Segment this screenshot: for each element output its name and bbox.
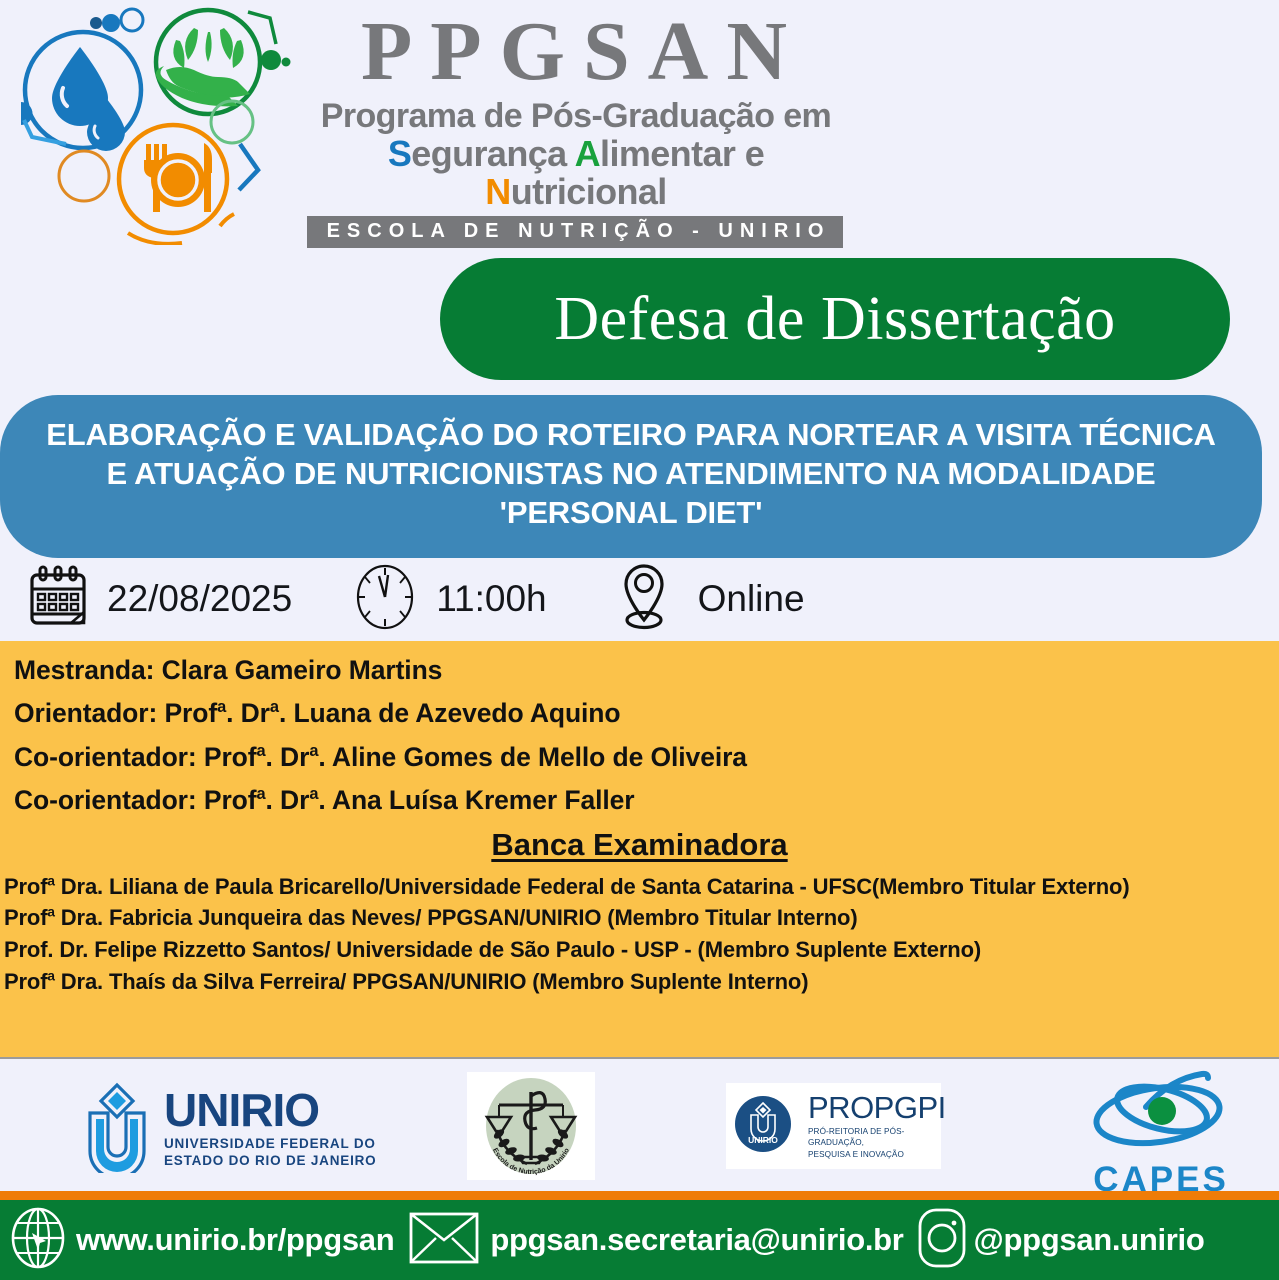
propgpi-badge-icon: UNIRIO: [734, 1095, 792, 1158]
institution-logos-strip: UNIRIO UNIVERSIDADE FEDERAL DO ESTADO DO…: [0, 1061, 1279, 1191]
student-text: Mestranda: Clara Gameiro Martins: [14, 655, 442, 685]
website-text[interactable]: www.unirio.br/ppgsan: [76, 1222, 394, 1258]
event-time-text: 11:00h: [436, 578, 546, 620]
committee-member-1-text: Dra. Liliana de Paula Bricarello/Univers…: [55, 874, 1130, 899]
advisor-line: Orientador: Profa. Dra. Luana de Azevedo…: [0, 692, 1279, 735]
coadvisor-2-role: Co-orientador: Prof: [14, 785, 256, 815]
event-time-item: 11:00h: [352, 564, 546, 635]
coadvisor-1-sup-2: a: [309, 742, 318, 760]
event-type-banner: Defesa de Dissertação: [440, 258, 1230, 380]
unirio-sub-line-2: ESTADO DO RIO DE JANEIRO: [164, 1153, 376, 1170]
committee-member-1: Profa Dra. Liliana de Paula Bricarello/U…: [0, 871, 1279, 903]
coadvisor-1-line: Co-orientador: Profa. Dra. Aline Gomes d…: [0, 736, 1279, 779]
event-type-label: Defesa de Dissertação: [554, 288, 1115, 350]
instagram-text[interactable]: @ppgsan.unirio: [974, 1222, 1205, 1258]
location-pin-icon: [615, 562, 673, 637]
brand-a-letter: A: [575, 133, 600, 174]
committee-member-2-sup: a: [47, 905, 54, 920]
coadvisor-2-mid: . Dr: [266, 785, 310, 815]
committee-member-4: Profa Dra. Thaís da Silva Ferreira/ PPGS…: [0, 966, 1279, 998]
brand-san-line: Segurança Alimentar e Nutricional: [296, 135, 856, 211]
committee-member-4-sup: a: [47, 969, 54, 984]
globe-icon: [10, 1207, 66, 1274]
brand-text-block: PPGSAN Programa de Pós-Graduação em Segu…: [296, 8, 856, 248]
committee-member-3-text: . Dr. Felipe Rizzetto Santos/ Universida…: [47, 937, 981, 962]
committee-member-3: Prof. Dr. Felipe Rizzetto Santos/ Univer…: [0, 934, 1279, 966]
advisor-role: Orientador: Prof: [14, 698, 217, 728]
propgpi-sub-line-1: PRÓ-REITORIA DE PÓS-GRADUAÇÃO,: [808, 1126, 946, 1148]
instagram-item[interactable]: @ppgsan.unirio: [916, 1207, 1205, 1274]
unirio-emblem-icon: [80, 1081, 154, 1178]
people-and-committee-block: Mestranda: Clara Gameiro Martins Orienta…: [0, 641, 1279, 1059]
coadvisor-1-role: Co-orientador: Prof: [14, 742, 256, 772]
advisor-sup-2: a: [270, 699, 279, 717]
coadvisor-2-sup-2: a: [309, 786, 318, 804]
committee-member-2: Profa Dra. Fabricia Junqueira das Neves/…: [0, 902, 1279, 934]
clock-icon: [352, 564, 418, 635]
brand-alimentar-text: limentar e: [600, 133, 764, 174]
event-date-text: 22/08/2025: [107, 578, 292, 620]
committee-member-4-text: Dra. Thaís da Silva Ferreira/ PPGSAN/UNI…: [55, 969, 809, 994]
committee-heading: Banca Examinadora: [0, 827, 1279, 863]
brand-school-bar: ESCOLA DE NUTRIÇÃO - UNIRIO: [307, 216, 843, 248]
advisor-name: . Luana de Azevedo Aquino: [279, 698, 621, 728]
coadvisor-2-sup-1: a: [256, 786, 265, 804]
email-item[interactable]: ppgsan.secretaria@unirio.br: [408, 1210, 903, 1271]
coadvisor-1-name: . Aline Gomes de Mello de Oliveira: [318, 742, 747, 772]
envelope-icon: [408, 1210, 480, 1271]
unirio-wordmark: UNIRIO UNIVERSIDADE FEDERAL DO ESTADO DO…: [164, 1089, 376, 1169]
brand-acronym: PPGSAN: [296, 8, 856, 96]
advisor-mid: . Dr: [226, 698, 270, 728]
propgpi-name: PROPGPI: [808, 1092, 946, 1123]
committee-member-1-sup: a: [47, 873, 54, 888]
event-date-item: 22/08/2025: [26, 564, 292, 635]
propgpi-wordmark: PROPGPI PRÓ-REITORIA DE PÓS-GRADUAÇÃO, P…: [808, 1092, 946, 1159]
coadvisor-1-mid: . Dr: [266, 742, 310, 772]
unirio-name: UNIRIO: [164, 1084, 319, 1136]
capes-emblem-icon: [1086, 1142, 1236, 1159]
brand-seguranca-text: egurança: [411, 133, 574, 174]
advisor-sup-1: a: [217, 699, 226, 717]
coadvisor-1-sup-1: a: [256, 742, 265, 760]
calendar-icon: [26, 564, 90, 635]
committee-member-2-text: Dra. Fabricia Junqueira das Neves/ PPGSA…: [55, 905, 858, 930]
website-item[interactable]: www.unirio.br/ppgsan: [10, 1207, 394, 1274]
propgpi-sub-line-2: PESQUISA E INOVAÇÃO: [808, 1149, 946, 1160]
escola-nutricao-seal: Escola de Nutrição da Unirio: [467, 1072, 595, 1180]
ppgsan-logo-mark: [8, 2, 298, 245]
brand-nutricional-text: utricional: [511, 171, 667, 212]
propgpi-logo: UNIRIO PROPGPI PRÓ-REITORIA DE PÓS-GRADU…: [726, 1083, 941, 1169]
brand-n-letter: N: [485, 171, 510, 212]
propgpi-badge-text: UNIRIO: [748, 1135, 778, 1145]
contact-bar: www.unirio.br/ppgsan ppgsan.secretaria@u…: [0, 1200, 1279, 1280]
coadvisor-2-line: Co-orientador: Profa. Dra. Ana Luísa Kre…: [0, 779, 1279, 822]
unirio-logo: UNIRIO UNIVERSIDADE FEDERAL DO ESTADO DO…: [80, 1081, 376, 1178]
student-line: Mestranda: Clara Gameiro Martins: [0, 649, 1279, 692]
thesis-title: ELABORAÇÃO E VALIDAÇÃO DO ROTEIRO PARA N…: [40, 415, 1222, 532]
committee-member-4-prefix: Prof: [4, 969, 47, 994]
header: PPGSAN Programa de Pós-Graduação em Segu…: [0, 0, 1279, 250]
poster-root: PPGSAN Programa de Pós-Graduação em Segu…: [0, 0, 1279, 1280]
committee-member-2-prefix: Prof: [4, 905, 47, 930]
brand-s-letter: S: [388, 133, 411, 174]
event-location-item: Online: [615, 562, 805, 637]
coadvisor-2-name: . Ana Luísa Kremer Faller: [318, 785, 634, 815]
email-text[interactable]: ppgsan.secretaria@unirio.br: [490, 1222, 903, 1258]
brand-program-line: Programa de Pós-Graduação em: [296, 98, 856, 134]
orange-divider-rule: [0, 1191, 1279, 1200]
event-info-row: 22/08/2025 11:00h: [0, 558, 1279, 640]
committee-member-3-prefix: Prof: [4, 937, 47, 962]
thesis-title-banner: ELABORAÇÃO E VALIDAÇÃO DO ROTEIRO PARA N…: [0, 395, 1262, 558]
instagram-icon: [916, 1207, 968, 1274]
committee-member-1-prefix: Prof: [4, 874, 47, 899]
event-location-text: Online: [698, 578, 805, 620]
unirio-sub-line-1: UNIVERSIDADE FEDERAL DO: [164, 1136, 376, 1153]
capes-logo: CAPES: [1086, 1067, 1236, 1187]
